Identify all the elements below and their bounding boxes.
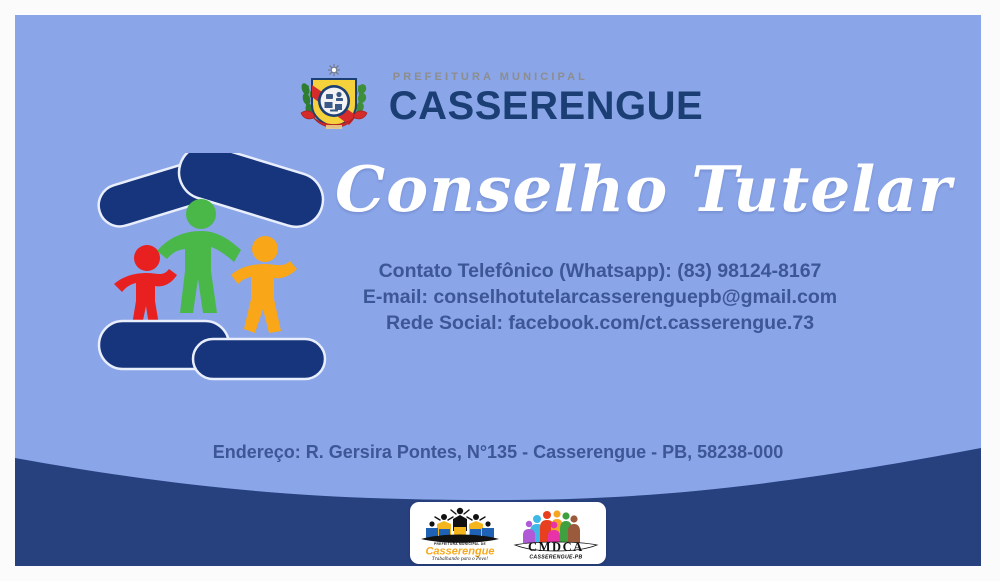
bottom-hands-shape — [99, 321, 325, 379]
city-wordmark: CASSERENGUE — [389, 86, 703, 126]
poster-stage: PREFEITURA MUNICIPAL CASSERENGUE — [0, 0, 1000, 581]
cmdca-people-icon — [523, 510, 580, 543]
page-title: Conselho Tutelar — [335, 158, 865, 221]
cmdca-badge-title: CMDCA — [528, 540, 584, 554]
prefeitura-label: PREFEITURA MUNICIPAL — [393, 72, 703, 83]
contact-email: E-mail: conselhotutelarcasserenguepb@gma… — [335, 284, 865, 310]
cmdca-logo: CMDCA CASSERENGUE-PB — [511, 505, 601, 561]
contact-phone: Contato Telefônico (Whatsapp): (83) 9812… — [335, 258, 865, 284]
prefeitura-badge-title: Casserengue — [425, 546, 494, 558]
address-line: Endereço: R. Gersira Pontes, N°135 - Cas… — [15, 442, 981, 463]
brand-header: PREFEITURA MUNICIPAL CASSERENGUE — [15, 63, 981, 135]
figure-adult-green — [157, 199, 241, 313]
cmdca-badge-subtitle: CASSERENGUE-PB — [529, 555, 582, 561]
poster-card: PREFEITURA MUNICIPAL CASSERENGUE — [15, 15, 981, 566]
contact-block: Contato Telefônico (Whatsapp): (83) 9812… — [335, 258, 865, 336]
figure-child-orange — [231, 236, 297, 333]
protecting-hands-family-icon — [95, 153, 330, 383]
prefeitura-casserengue-logo: PREFEITURA MUNICIPAL DE Casserengue Trab… — [415, 505, 505, 561]
casserengue-coat-of-arms-icon — [293, 63, 375, 135]
people-arc-icon — [421, 508, 499, 543]
prefeitura-badge-tagline: Trabalhando para o Povo! — [432, 557, 489, 561]
contact-social: Rede Social: facebook.com/ct.casserengue… — [335, 310, 865, 336]
footer-logo-strip: PREFEITURA MUNICIPAL DE Casserengue Trab… — [410, 502, 606, 564]
